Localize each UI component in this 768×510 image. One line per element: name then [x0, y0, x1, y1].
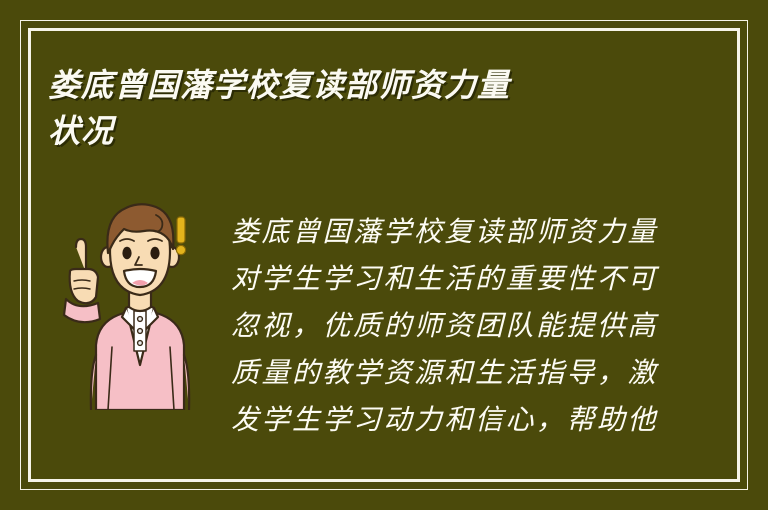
body-line-4: 质量的教学资源和生活指导，激	[231, 349, 651, 396]
shirt-button-bottom	[138, 341, 143, 346]
pointing-finger	[76, 239, 86, 273]
body-line-1: 娄底曾国藩学校复读部师资力量	[231, 208, 651, 255]
poster-canvas: 娄底曾国藩学校复读部师资力量 状况 娄底曾国藩学校复读部师资力量 对学生学习和生…	[0, 0, 768, 510]
body-line-3: 忽视，优质的师资团队能提供高	[231, 302, 651, 349]
body-line-5: 发学生学习动力和信心，帮助他	[231, 396, 651, 443]
body-paragraph: 娄底曾国藩学校复读部师资力量 对学生学习和生活的重要性不可 忽视，优质的师资团队…	[231, 208, 651, 443]
shirt-button-middle	[138, 329, 143, 334]
page-title: 娄底曾国藩学校复读部师资力量 状况	[48, 62, 648, 154]
character-illustration	[60, 195, 220, 410]
exclamation-mark-icon	[176, 217, 185, 255]
hand-fist	[70, 269, 98, 303]
raised-index-finger-hand	[64, 239, 100, 322]
left-eye	[122, 247, 131, 259]
title-line-2: 状况	[48, 108, 648, 154]
right-eye	[150, 247, 159, 259]
shirt-button-top	[138, 317, 143, 322]
body-line-2: 对学生学习和生活的重要性不可	[231, 255, 651, 302]
title-line-1: 娄底曾国藩学校复读部师资力量	[48, 62, 648, 108]
